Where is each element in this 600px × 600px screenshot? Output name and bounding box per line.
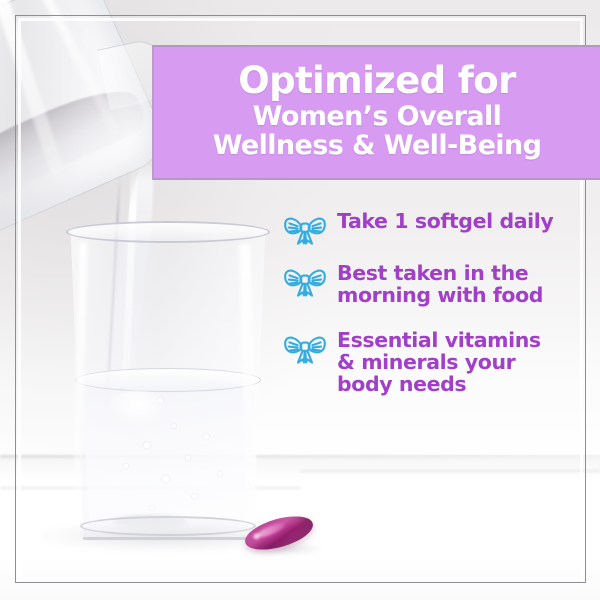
water-bubble xyxy=(186,456,190,460)
glass-water xyxy=(76,376,260,534)
list-item: Take 1 softgel daily xyxy=(283,211,583,247)
headline-line-2: Women’s Overall xyxy=(253,103,502,130)
water-bubble xyxy=(172,424,176,428)
water-bubble xyxy=(124,464,128,468)
table-reflection-streak xyxy=(300,470,600,472)
list-item-label: Take 1 softgel daily xyxy=(337,211,553,233)
water-bubble xyxy=(218,472,222,476)
water-bubble xyxy=(192,494,197,499)
benefit-list: Take 1 softgel daily Best taken in the m… xyxy=(283,211,583,412)
water-bubble xyxy=(204,434,209,439)
headline-line-1: Optimized for xyxy=(238,62,516,99)
glass-rim xyxy=(66,221,270,243)
list-item-label: Best taken in the morning with food xyxy=(337,263,543,306)
drinking-glass xyxy=(62,228,274,540)
list-item: Essential vitamins & minerals your body … xyxy=(283,330,583,395)
water-splash xyxy=(108,390,166,426)
list-item-label: Essential vitamins & minerals your body … xyxy=(337,330,541,395)
bow-icon xyxy=(283,213,327,247)
headline-line-3: Wellness & Well-Being xyxy=(213,132,542,159)
capsule-highlight xyxy=(252,532,260,540)
water-surface xyxy=(75,368,261,392)
list-item: Best taken in the morning with food xyxy=(283,263,583,306)
water-bubble xyxy=(144,442,150,448)
product-infographic: Optimized for Women’s Overall Wellness &… xyxy=(0,0,600,600)
water-bubble xyxy=(150,506,154,510)
headline-banner: Optimized for Women’s Overall Wellness &… xyxy=(152,45,600,180)
bow-icon xyxy=(283,332,327,366)
bow-icon xyxy=(283,265,327,299)
water-bubble xyxy=(162,476,169,482)
